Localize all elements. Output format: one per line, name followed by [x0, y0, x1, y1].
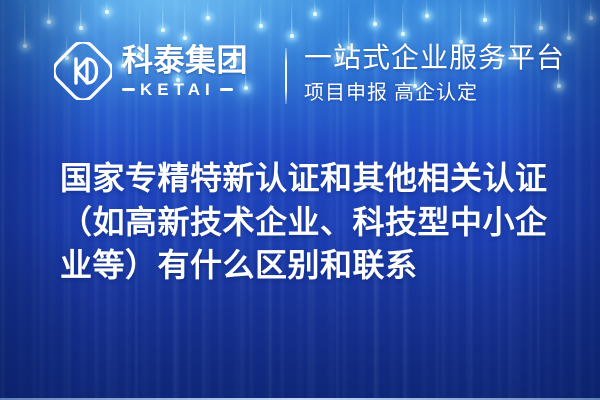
headline-line: 业等）有什么区别和联系 — [60, 244, 548, 288]
brand-name-en-row: KETAI — [122, 81, 248, 98]
brand-name-en: KETAI — [140, 81, 215, 98]
dash-icon — [220, 88, 233, 91]
vertical-divider-icon — [285, 48, 287, 104]
promo-banner: 科泰集团 KETAI 一站式企业服务平台 项目申报 高企认定 国家专精特新认证和… — [0, 0, 600, 400]
headline: 国家专精特新认证和其他相关认证（如高新技术企业、科技型中小企业等）有什么区别和联… — [60, 157, 548, 288]
tagline-block: 一站式企业服务平台 项目申报 高企认定 — [304, 44, 565, 104]
headline-line: （如高新技术企业、科技型中小企 — [60, 201, 548, 245]
brand-name-cn: 科泰集团 — [122, 43, 248, 78]
brand-logo[interactable]: 科泰集团 KETAI — [54, 42, 248, 100]
tagline-secondary: 项目申报 高企认定 — [304, 82, 565, 104]
ketai-diamond-kp-logo-icon — [54, 42, 112, 100]
dash-icon — [122, 88, 135, 91]
tagline-primary: 一站式企业服务平台 — [304, 44, 565, 75]
headline-line: 国家专精特新认证和其他相关认证 — [60, 157, 548, 201]
brand-logo-text: 科泰集团 KETAI — [122, 45, 248, 98]
banner-header: 科泰集团 KETAI 一站式企业服务平台 项目申报 高企认定 — [0, 0, 600, 140]
